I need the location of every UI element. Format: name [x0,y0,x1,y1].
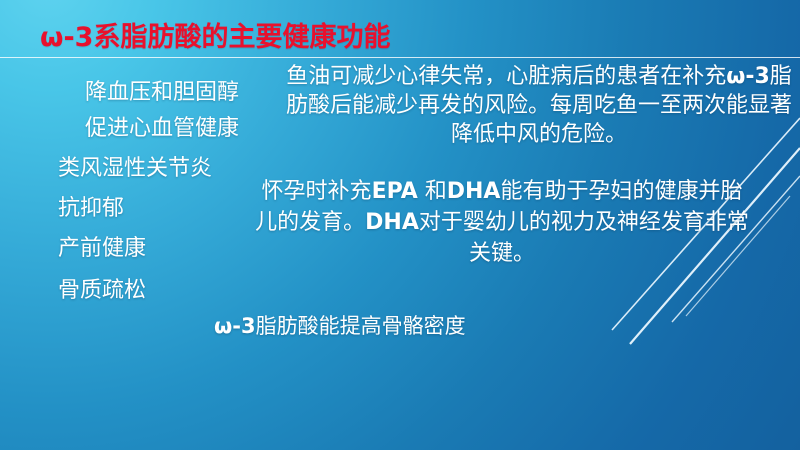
text-run: 鱼油可减少心律失常，心脏病后的患者在补充 [286,64,726,89]
title-divider [0,57,800,58]
pregnancy-paragraph: 怀孕时补充EPA 和DHA能有助于孕妇的健康并胎儿的发育。DHA对于婴幼儿的视力… [252,176,752,270]
benefit-item-5: 骨质疏松 [58,280,288,302]
heart-paragraph: 鱼油可减少心律失常，心脏病后的患者在补充ω-3脂肪酸后能减少再发的风险。每周吃鱼… [284,62,794,149]
text-run: 脂肪酸能提高骨骼密度 [256,314,466,338]
bone-density-note: ω-3脂肪酸能提高骨骼密度 [214,310,466,340]
text-run: ω-3 [214,314,256,338]
text-run: 怀孕时补充 [262,179,372,204]
text-run: ω-3 [726,64,770,89]
text-run: DHA [365,210,419,235]
slide-title: ω-3系脂肪酸的主要健康功能 [40,22,390,53]
text-run: 对于婴幼儿的视力及神经发育非常关键。 [419,210,749,266]
slide-title-rest: 系脂肪酸的主要健康功能 [93,22,390,53]
text-run: DHA [447,179,501,204]
benefit-item-1: 促进心血管健康 [58,118,266,140]
text-run: 和 [418,179,447,204]
benefit-item-0: 降血压和胆固醇 [58,82,266,104]
slide-canvas: ω-3系脂肪酸的主要健康功能 降血压和胆固醇 促进心血管健康 类风湿性关节炎 抗… [0,0,800,450]
slide-title-omega: ω-3 [40,22,93,53]
text-run: EPA [372,179,418,204]
